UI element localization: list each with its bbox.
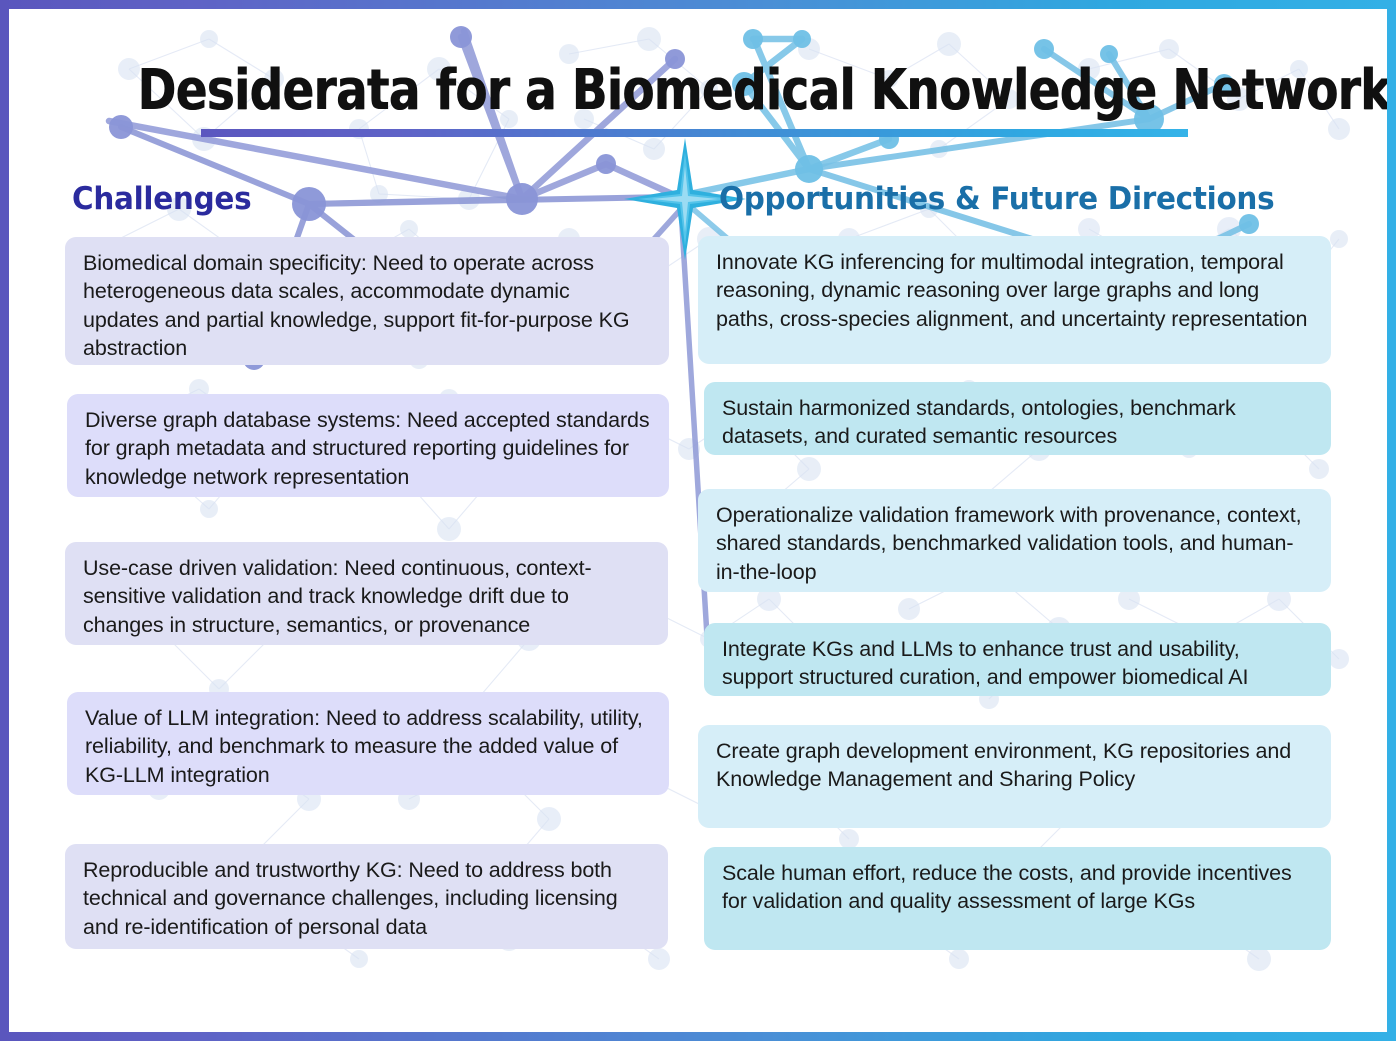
challenge-card[interactable]: Diverse graph database systems: Need acc…	[67, 394, 669, 497]
challenge-card-text: Value of LLM integration: Need to addres…	[85, 704, 651, 789]
opportunity-card[interactable]: Scale human effort, reduce the costs, an…	[704, 847, 1331, 950]
opportunity-card-text: Create graph development environment, KG…	[716, 737, 1313, 794]
column-heading-challenges: Challenges	[72, 181, 251, 217]
challenge-card[interactable]: Use-case driven validation: Need continu…	[65, 542, 668, 645]
challenge-card[interactable]: Biomedical domain specificity: Need to o…	[65, 237, 669, 365]
challenge-card-text: Diverse graph database systems: Need acc…	[85, 406, 651, 491]
page-title-text: Desiderata for a Biomedical Knowledge Ne…	[137, 62, 1387, 119]
challenge-card-text: Biomedical domain specificity: Need to o…	[83, 249, 651, 363]
opportunity-card-text: Scale human effort, reduce the costs, an…	[722, 859, 1313, 916]
slide-frame: Desiderata for a Biomedical Knowledge Ne…	[0, 0, 1396, 1041]
challenge-card[interactable]: Value of LLM integration: Need to addres…	[67, 692, 669, 795]
opportunity-card[interactable]: Innovate KG inferencing for multimodal i…	[698, 236, 1331, 364]
opportunity-card-text: Integrate KGs and LLMs to enhance trust …	[722, 635, 1313, 692]
opportunity-card-text: Sustain harmonized standards, ontologies…	[722, 394, 1313, 451]
opportunity-card[interactable]: Integrate KGs and LLMs to enhance trust …	[704, 623, 1331, 696]
opportunity-card[interactable]: Create graph development environment, KG…	[698, 725, 1331, 828]
challenge-card-text: Reproducible and trustworthy KG: Need to…	[83, 856, 650, 941]
opportunity-card-text: Operationalize validation framework with…	[716, 501, 1313, 586]
opportunity-card[interactable]: Sustain harmonized standards, ontologies…	[704, 382, 1331, 455]
challenge-card-text: Use-case driven validation: Need continu…	[83, 554, 650, 639]
opportunity-card[interactable]: Operationalize validation framework with…	[698, 489, 1331, 592]
page-title: Desiderata for a Biomedical Knowledge Ne…	[9, 62, 1387, 119]
challenge-card[interactable]: Reproducible and trustworthy KG: Need to…	[65, 844, 668, 949]
slide-canvas: Desiderata for a Biomedical Knowledge Ne…	[9, 9, 1387, 1032]
column-heading-opportunities: Opportunities & Future Directions	[719, 181, 1274, 217]
opportunity-card-text: Innovate KG inferencing for multimodal i…	[716, 248, 1313, 333]
